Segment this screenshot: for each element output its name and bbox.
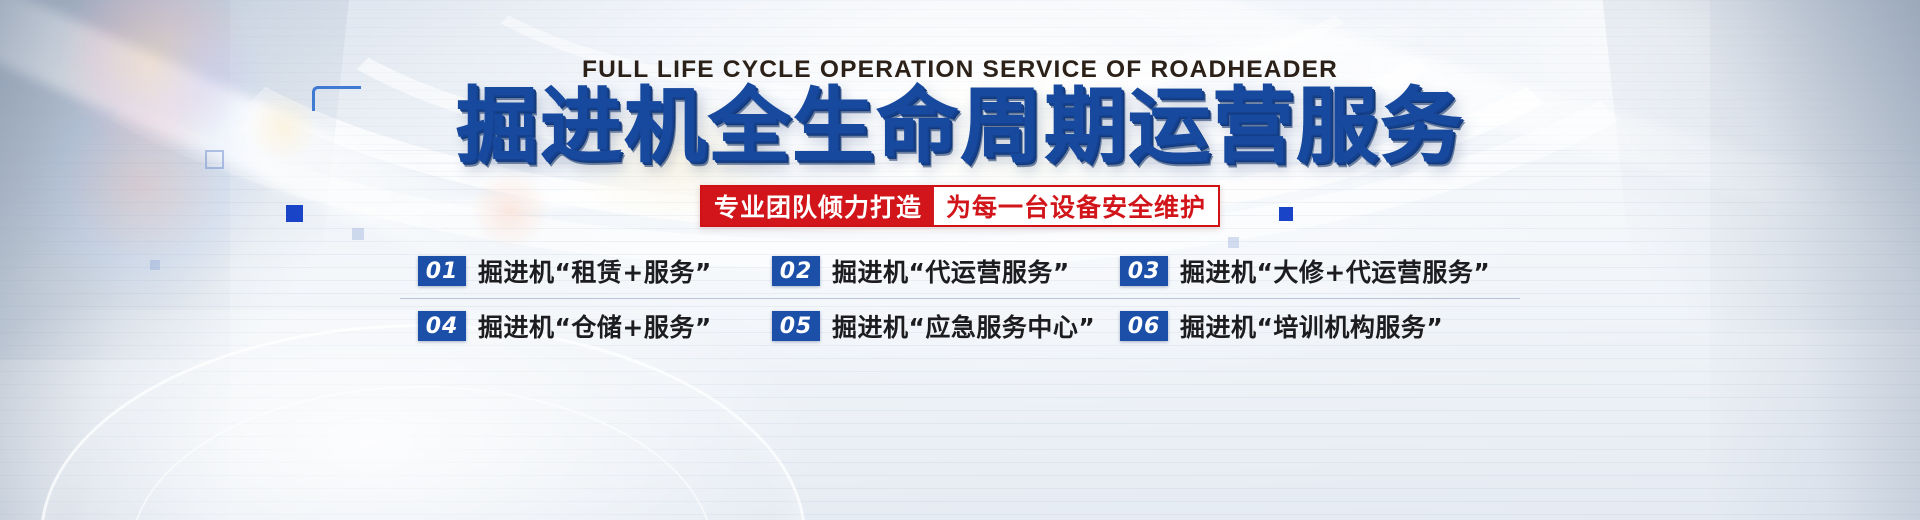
service-number-badge: 06 bbox=[1120, 311, 1168, 341]
tagline-right: 为每一台设备安全维护 bbox=[934, 187, 1218, 225]
banner-title: 掘进机全生命周期运营服务 bbox=[0, 86, 1920, 168]
tagline-ribbon: 专业团队倾力打造 为每一台设备安全维护 bbox=[700, 185, 1220, 227]
service-number-badge: 02 bbox=[772, 256, 820, 286]
service-label: 掘进机“大修+代运营服务” bbox=[1180, 253, 1490, 289]
service-number-badge: 05 bbox=[772, 311, 820, 341]
service-label: 掘进机“租赁+服务” bbox=[478, 253, 712, 289]
service-label: 掘进机“培训机构服务” bbox=[1180, 308, 1443, 344]
service-item-03[interactable]: 03 掘进机“大修+代运营服务” bbox=[1120, 253, 1520, 289]
service-item-05[interactable]: 05 掘进机“应急服务中心” bbox=[772, 308, 1120, 344]
service-item-02[interactable]: 02 掘进机“代运营服务” bbox=[772, 253, 1120, 289]
service-list: 01 掘进机“租赁+服务” 02 掘进机“代运营服务” 03 掘进机“大修+代运… bbox=[400, 244, 1520, 353]
service-label: 掘进机“仓储+服务” bbox=[478, 308, 712, 344]
service-number-badge: 03 bbox=[1120, 256, 1168, 286]
service-item-04[interactable]: 04 掘进机“仓储+服务” bbox=[400, 308, 772, 344]
promo-banner: FULL LIFE CYCLE OPERATION SERVICE OF ROA… bbox=[0, 0, 1920, 520]
service-label: 掘进机“应急服务中心” bbox=[832, 308, 1095, 344]
banner-content: FULL LIFE CYCLE OPERATION SERVICE OF ROA… bbox=[0, 0, 1920, 520]
service-number-badge: 01 bbox=[418, 256, 466, 286]
service-row-1: 01 掘进机“租赁+服务” 02 掘进机“代运营服务” 03 掘进机“大修+代运… bbox=[400, 244, 1520, 299]
service-item-01[interactable]: 01 掘进机“租赁+服务” bbox=[400, 253, 772, 289]
service-item-06[interactable]: 06 掘进机“培训机构服务” bbox=[1120, 308, 1520, 344]
tagline-left: 专业团队倾力打造 bbox=[702, 187, 934, 225]
service-label: 掘进机“代运营服务” bbox=[832, 253, 1070, 289]
service-number-badge: 04 bbox=[418, 311, 466, 341]
service-row-2: 04 掘进机“仓储+服务” 05 掘进机“应急服务中心” 06 掘进机“培训机构… bbox=[400, 299, 1520, 353]
